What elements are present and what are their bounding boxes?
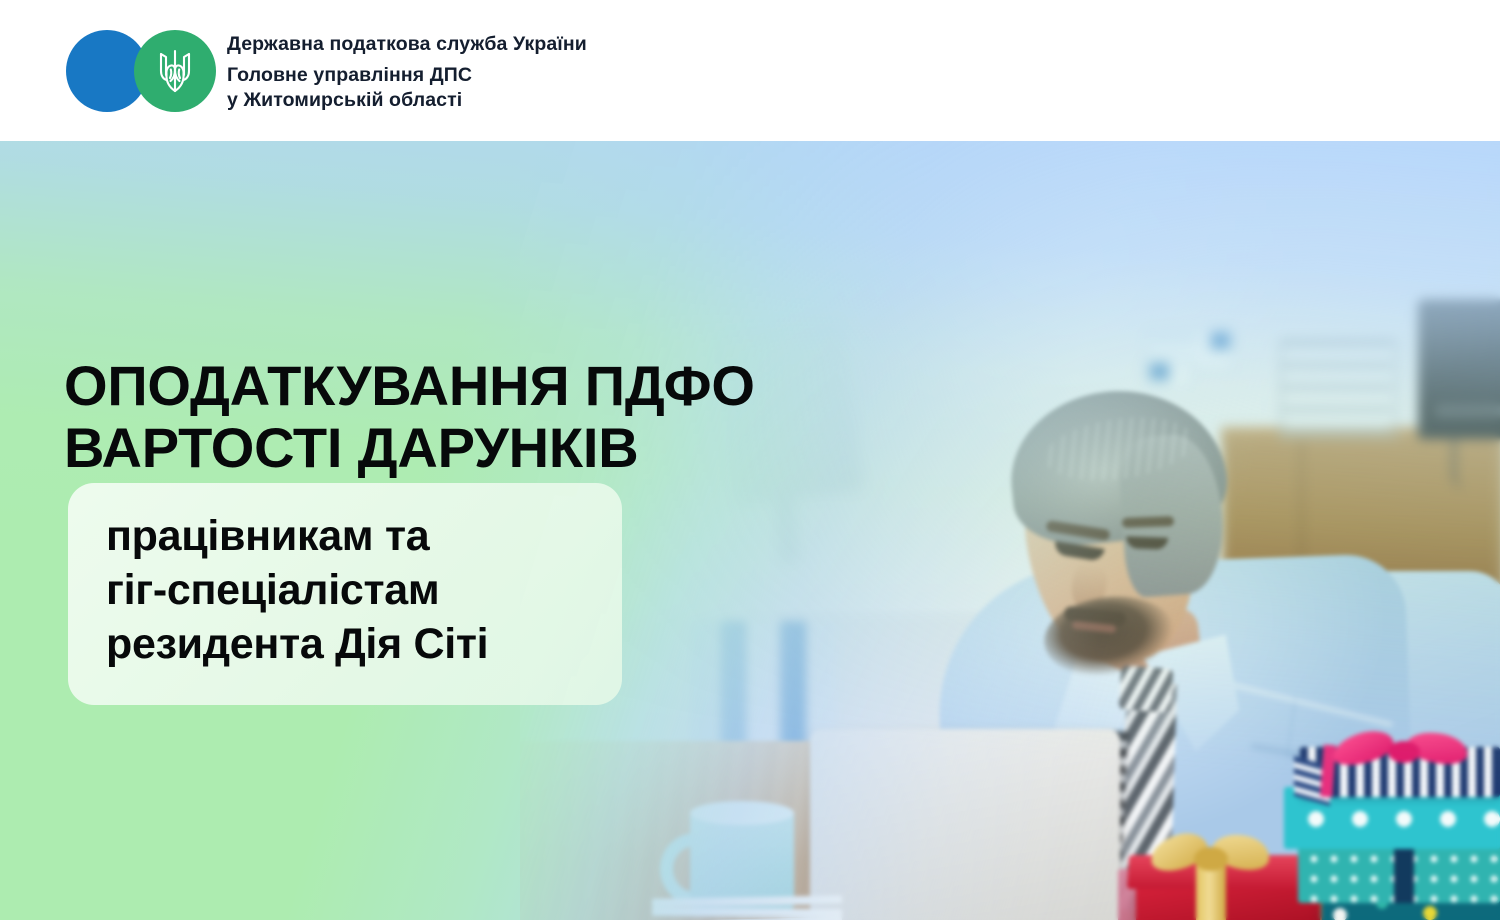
subtitle-text: працівникам та гіг-спеціалістам резидент…: [106, 509, 606, 672]
organization-name: Державна податкова служба України Головн…: [227, 32, 587, 113]
org-title-dept: Головне управління ДПС: [227, 63, 587, 88]
banner-canvas: ОПОДАТКУВАННЯ ПДФО ВАРТОСТІ ДАРУНКІВ пра…: [0, 0, 1500, 920]
subtitle-card: працівникам та гіг-спеціалістам резидент…: [68, 483, 622, 705]
title-line-2: ВАРТОСТІ ДАРУНКІВ: [64, 417, 864, 479]
logo-green-circle-icon: [134, 30, 216, 112]
org-title-region: у Житомирській області: [227, 88, 587, 113]
subtitle-line-2: гіг-спеціалістам: [106, 563, 606, 617]
org-title-main: Державна податкова служба України: [227, 32, 587, 57]
banner-content: ОПОДАТКУВАННЯ ПДФО ВАРТОСТІ ДАРУНКІВ пра…: [0, 141, 1500, 920]
site-header: Державна податкова служба України Головн…: [0, 0, 1500, 141]
dps-logo[interactable]: [66, 30, 216, 112]
ukraine-trident-icon: [155, 45, 195, 97]
page-title: ОПОДАТКУВАННЯ ПДФО ВАРТОСТІ ДАРУНКІВ: [64, 355, 864, 480]
subtitle-line-1: працівникам та: [106, 509, 606, 563]
subtitle-line-3: резидента Дія Сіті: [106, 617, 606, 671]
title-line-1: ОПОДАТКУВАННЯ ПДФО: [64, 355, 864, 417]
